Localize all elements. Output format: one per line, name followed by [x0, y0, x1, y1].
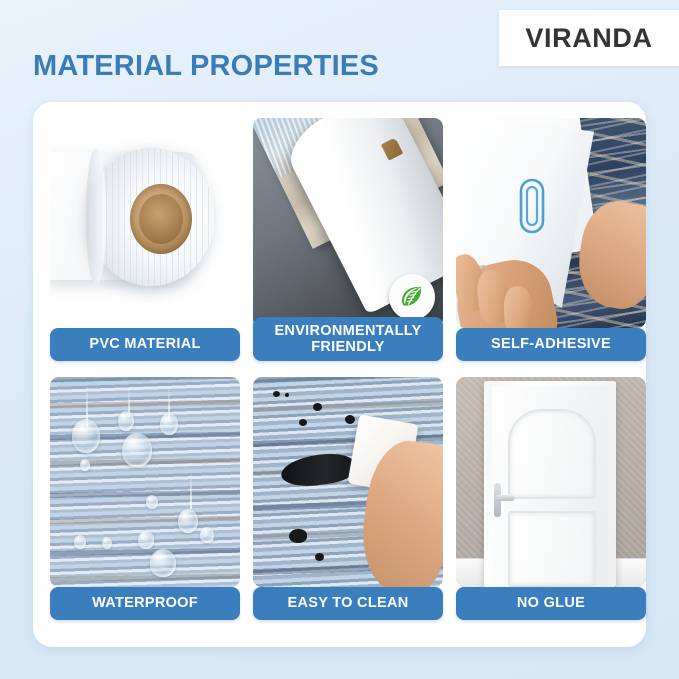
brand-logo-box: VIRANDA [499, 10, 679, 66]
feature-cell-pvc-material[interactable]: PVC MATERIAL [50, 118, 240, 363]
paperclip-icon [516, 176, 548, 241]
feature-label-easy-to-clean: EASY TO CLEAN [253, 587, 443, 620]
page-title: MATERIAL PROPERTIES [33, 50, 379, 83]
feature-label-no-glue: NO GLUE [456, 587, 646, 620]
features-card: PVC MATERIAL [33, 102, 646, 647]
feature-label-waterproof: WATERPROOF [50, 587, 240, 620]
feature-label-self-adhesive: SELF-ADHESIVE [456, 328, 646, 361]
leaf-icon [397, 282, 427, 312]
feature-cell-waterproof[interactable]: WATERPROOF [50, 377, 240, 622]
feature-cell-easy-to-clean[interactable]: EASY TO CLEAN [253, 377, 443, 622]
feature-cell-no-glue[interactable]: NO GLUE [456, 377, 646, 622]
waterproof-droplets-photo [50, 377, 240, 587]
pvc-roll-photo [50, 118, 240, 328]
feature-label-pvc-material: PVC MATERIAL [50, 328, 240, 361]
eco-badge [389, 274, 435, 320]
feature-cell-self-adhesive[interactable]: SELF-ADHESIVE [456, 118, 646, 363]
eco-roll-photo [253, 118, 443, 328]
self-adhesive-peel-photo [456, 118, 646, 328]
feature-cell-environmentally-friendly[interactable]: ENVIRONMENTALLY FRIENDLY [253, 118, 443, 363]
no-glue-door-photo [456, 377, 646, 587]
easy-to-clean-photo [253, 377, 443, 587]
brand-logo-text: VIRANDA [525, 23, 652, 54]
features-grid: PVC MATERIAL [50, 118, 646, 622]
feature-label-environmentally-friendly: ENVIRONMENTALLY FRIENDLY [253, 317, 443, 361]
